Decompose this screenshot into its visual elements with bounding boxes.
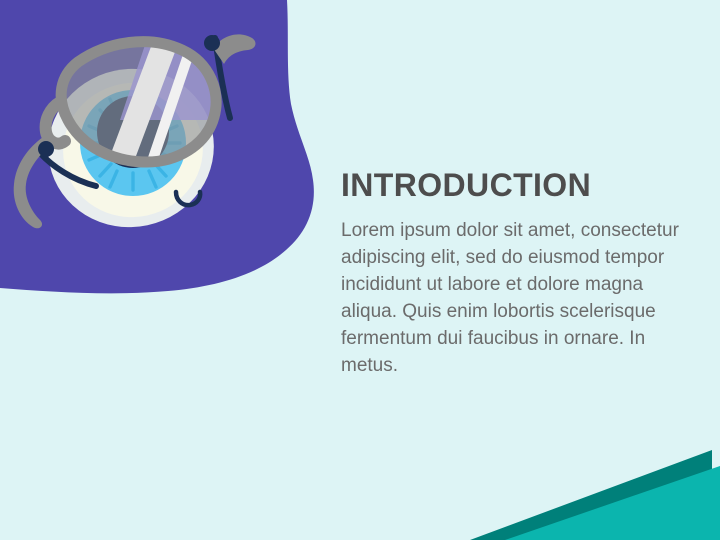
text-content-block: INTRODUCTION Lorem ipsum dolor sit amet,… <box>341 168 693 379</box>
corner-accent-teal <box>505 466 720 540</box>
slide-canvas: INTRODUCTION Lorem ipsum dolor sit amet,… <box>0 0 720 540</box>
body-paragraph: Lorem ipsum dolor sit amet, consectetur … <box>341 217 693 379</box>
page-title: INTRODUCTION <box>341 168 693 203</box>
